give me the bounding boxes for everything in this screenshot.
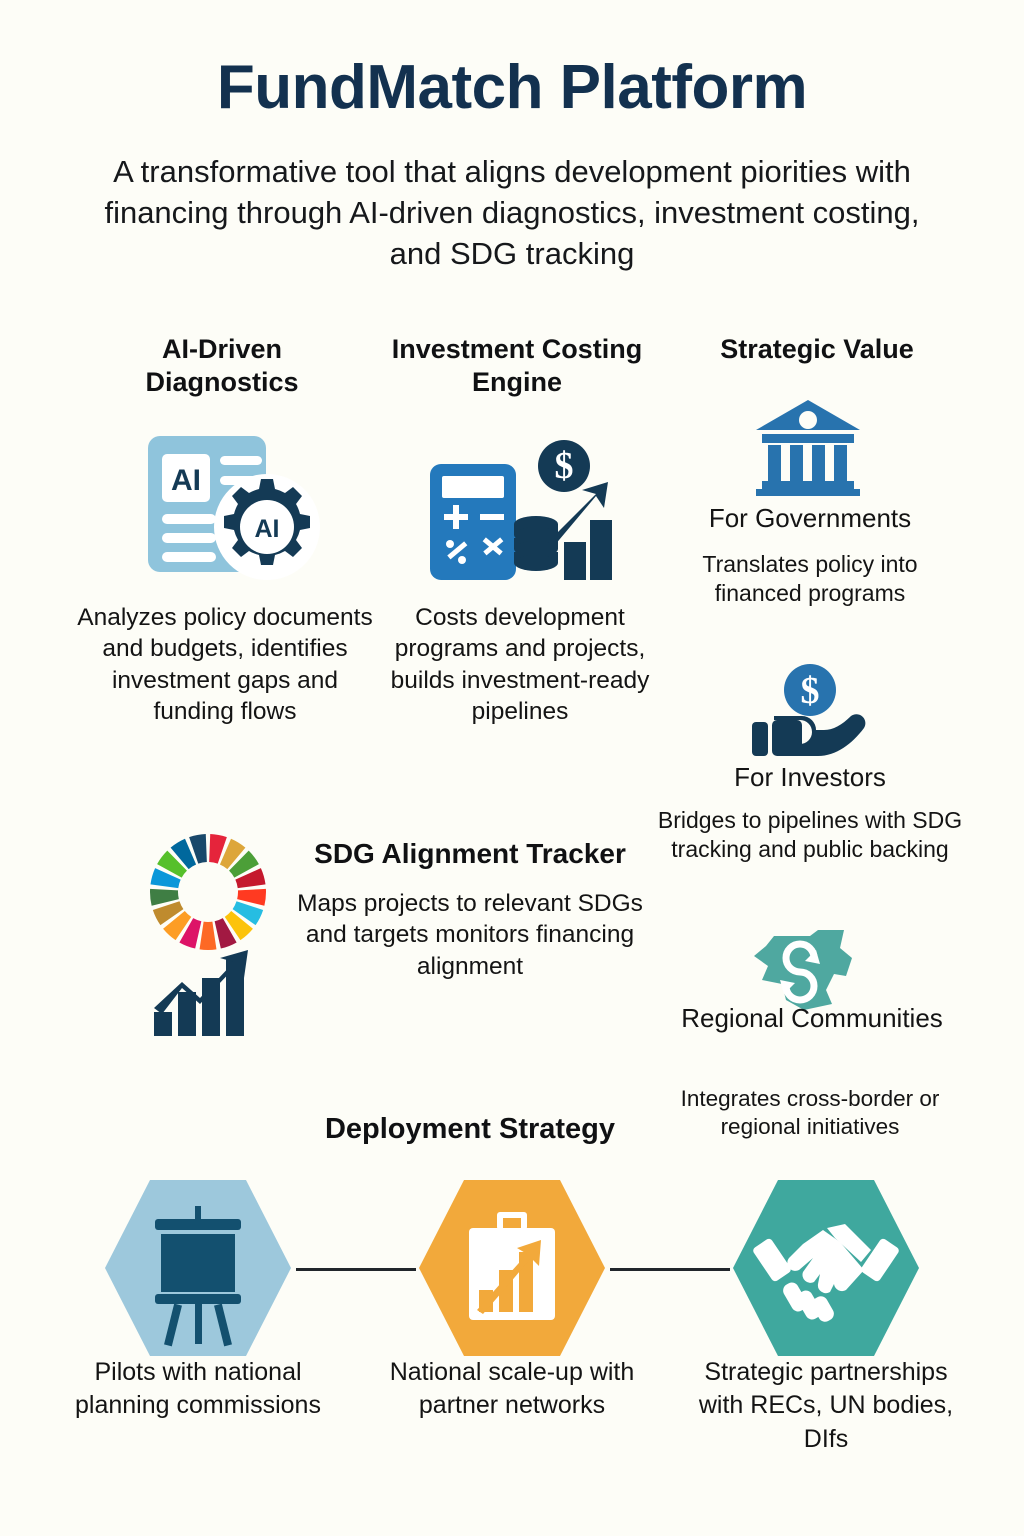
briefcase-growth-icon: [469, 1212, 555, 1320]
feature-body-ai-diagnostics: Analyzes policy documents and budgets, i…: [70, 602, 380, 727]
deployment-step-scaleup[interactable]: [417, 1178, 607, 1358]
feature-heading-ai-diagnostics: AI-Driven Diagnostics: [92, 333, 352, 399]
feature-heading-investment-costing: Investment Costing Engine: [372, 333, 662, 399]
page-title: FundMatch Platform: [0, 52, 1024, 123]
page-subtitle: A transformative tool that aligns develo…: [92, 152, 932, 275]
hand-holding-coin-icon: $: [748, 662, 872, 765]
svg-text:AI: AI: [255, 515, 280, 543]
bank-building-icon: [752, 396, 864, 501]
connector-line-2: [610, 1268, 730, 1271]
sdg-tracker-heading: SDG Alignment Tracker: [270, 838, 670, 870]
connector-line-1: [296, 1268, 416, 1271]
strategic-value-body-investors: Bridges to pipelines with SDG tracking a…: [655, 806, 965, 864]
ai-document-gear-icon: AI AI: [140, 432, 330, 587]
svg-text:$: $: [801, 670, 820, 712]
sdg-wheel-segment: [200, 922, 217, 950]
strategic-value-body-governments: Translates policy into financed programs: [664, 550, 956, 608]
deployment-caption-pilots: Pilots with national planning commission…: [63, 1356, 333, 1423]
svg-text:$: $: [555, 445, 574, 487]
deployment-step-pilots[interactable]: [103, 1178, 293, 1358]
strategic-value-label-regional: Regional Communities: [672, 1003, 952, 1034]
deployment-heading: Deployment Strategy: [240, 1113, 700, 1146]
strategic-value-label-investors: For Investors: [660, 762, 960, 793]
sdg-tracker-body: Maps projects to relevant SDGs and targe…: [275, 888, 665, 982]
infographic-canvas: FundMatch Platform A transformative tool…: [0, 0, 1024, 1536]
deployment-caption-partnerships: Strategic partnerships with RECs, UN bod…: [691, 1356, 961, 1456]
growth-bar-chart-arrow-icon: [154, 950, 248, 1036]
feature-heading-strategic-value: Strategic Value: [672, 333, 962, 366]
feature-body-investment-costing: Costs development programs and projects,…: [375, 602, 665, 727]
deployment-step-partnerships[interactable]: [731, 1178, 921, 1358]
deployment-caption-scaleup: National scale-up with partner networks: [377, 1356, 647, 1423]
strategic-value-label-governments: For Governments: [660, 503, 960, 534]
sdg-color-wheel-icon: [148, 830, 268, 1045]
calculator-coins-growth-icon: $: [424, 438, 614, 598]
svg-text:AI: AI: [171, 464, 201, 497]
